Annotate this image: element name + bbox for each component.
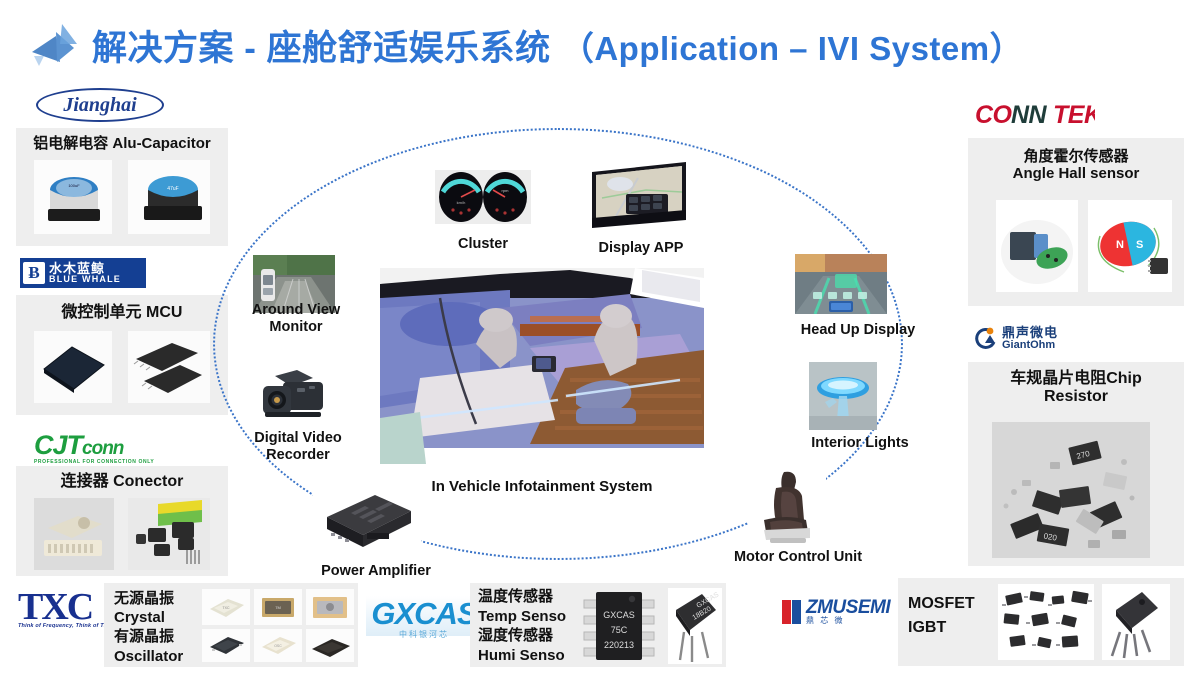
igbt-to247-package-image (1102, 584, 1170, 660)
mcu-chip-pair-image (128, 331, 210, 403)
hud-road-overlay-image (795, 254, 887, 314)
chip-resistors-scatter-image: 270 020 (992, 422, 1150, 558)
gxcas-to92-package-image: GXCAS 18B20 (668, 588, 722, 664)
zmusemi-logo-cn: 鼎 芯 微 (806, 617, 890, 625)
oscillator-smd-3-image (306, 629, 354, 662)
zmusemi-line-2: IGBT (908, 616, 975, 640)
gxcas-soic-chip-image: GXCAS 75C 220213 (580, 588, 658, 664)
svg-text:rpm: rpm (502, 188, 510, 193)
magnet-pole-diagram-image: N S (1088, 200, 1172, 292)
gxcas-line-1: 温度传感器 (478, 587, 566, 607)
panel-alu-capacitor-title: 铝电解电容 Alu-Capacitor (16, 128, 228, 152)
alu-capacitor-smd-image: 47uF (128, 160, 210, 234)
mosfet-package-group-image (998, 584, 1094, 660)
cjt-logo-sub-word: conn (82, 438, 123, 459)
giantohm-logo-cn: 鼎声微电 (1002, 326, 1058, 340)
svg-text:km/h: km/h (457, 200, 466, 205)
oscillator-smd-2-image: OSC (254, 629, 302, 662)
txc-line-2: Crystal (114, 608, 183, 627)
txc-line-4: Oscillator (114, 647, 183, 666)
gxcas-line-3: 湿度传感器 (478, 626, 566, 646)
panel-gxcas-sensors: 温度传感器 Temp Senso 湿度传感器 Humi Senso GXCAS … (470, 583, 726, 667)
mcu-qfp-chip-image (34, 331, 112, 403)
panel-txc-crystal: 无源晶振 Crystal 有源晶振 Oscillator TXC 7M OSC (104, 583, 358, 667)
connector-housing-black-image (128, 498, 210, 570)
page-title: 解决方案 - 座舱舒适娱乐系统 （Application – IVI Syste… (92, 20, 1023, 71)
svg-text:OSC: OSC (274, 644, 282, 648)
center-label-ivi: In Vehicle Infotainment System (380, 478, 704, 495)
giantohm-mark-icon (972, 326, 998, 352)
crystal-smd-1-image: TXC (202, 589, 250, 625)
node-label-around-view-monitor: Around View Monitor (240, 302, 352, 335)
cjt-logo-tagline: PROFESSIONAL FOR CONNECTION ONLY (34, 460, 154, 465)
gxcas-line-2: Temp Senso (478, 607, 566, 627)
svg-text:TXC: TXC (223, 606, 230, 610)
panel-connector-title: 连接器 Conector (16, 466, 228, 491)
panel-resistor-title-en: Resistor (968, 388, 1184, 406)
panel-mosfet-igbt: MOSFET IGBT (898, 578, 1184, 666)
node-label-interior-lights: Interior Lights (790, 435, 930, 452)
svg-text:CO: CO (975, 101, 1013, 129)
crystal-smd-2-image: 7M (254, 589, 302, 625)
zmusemi-line-1: MOSFET (908, 592, 975, 616)
txc-line-3: 有源晶振 (114, 627, 183, 646)
node-label-head-up-display: Head Up Display (780, 322, 936, 339)
hall-sensor-module-image (996, 200, 1078, 292)
zmusemi-logo: ZMUSEMI 鼎 芯 微 (782, 598, 890, 625)
panel-mcu-title: 微控制单元 MCU (16, 295, 228, 322)
node-label-cluster: Cluster (420, 236, 546, 253)
alu-capacitor-blue-top-image: 100uF (34, 160, 112, 234)
panel-mcu: 微控制单元 MCU (16, 295, 228, 415)
giantohm-logo-en: GiantOhm (1002, 340, 1058, 352)
node-label-display-app: Display APP (576, 240, 706, 257)
node-label-power-amplifier: Power Amplifier (300, 563, 452, 580)
power-car-seat-image (748, 468, 826, 548)
gxcas-logo: GXCAS 中科银河芯 (366, 596, 482, 636)
zmusemi-logo-en: ZMUSEMI (806, 598, 890, 617)
txc-logo: TXC Think of Frequency, Think of TXC (18, 588, 112, 630)
instrument-cluster-dials-image: km/h rpm (435, 170, 531, 224)
bluewhale-mark-icon: Ƀ (23, 262, 45, 284)
slide-root: 解决方案 - 座舱舒适娱乐系统 （Application – IVI Syste… (0, 0, 1200, 674)
page-title-en: （Application – IVI System） (561, 30, 1023, 67)
cjt-logo-main: CJT (34, 430, 82, 460)
jianghai-logo-text: Jianghai (36, 88, 164, 122)
gxcas-logo-main: GXCAS (366, 598, 482, 629)
panel-connector: 连接器 Conector (16, 466, 228, 576)
node-label-digital-video-recorder: Digital Video Recorder (240, 430, 356, 463)
dashcam-device-image (257, 368, 335, 426)
zmusemi-mark-icon (782, 600, 801, 624)
cjtconn-logo: CJTconn PROFESSIONAL FOR CONNECTION ONLY (34, 432, 154, 465)
gxcas-line-4: Humi Senso (478, 646, 566, 666)
panel-angle-hall-sensor: 角度霍尔传感器 Angle Hall sensor N S (968, 138, 1184, 306)
connector-header-white-image (34, 498, 114, 570)
svg-text:TEK: TEK (1053, 101, 1095, 129)
amplifier-black-box-image (313, 489, 421, 555)
car-cabin-interior-image (380, 268, 704, 464)
giantohm-logo: 鼎声微电 GiantOhm (972, 326, 1058, 352)
svg-text:100uF: 100uF (68, 183, 80, 188)
conntek-logo: CO NN TEK (975, 100, 1095, 135)
bluewhale-logo-en: BLUE WHALE (49, 275, 121, 284)
node-label-motor-control-unit: Motor Control Unit (718, 549, 878, 566)
panel-chip-resistor: 车规晶片电阻Chip Resistor 270 020 (968, 362, 1184, 566)
crystal-smd-3-image (306, 589, 354, 625)
svg-text:220213: 220213 (604, 640, 634, 650)
txc-logo-main: TXC (18, 588, 112, 626)
txc-logo-tagline: Think of Frequency, Think of TXC (18, 624, 112, 630)
triangle-logo-icon (30, 22, 88, 68)
panel-alu-capacitor: 铝电解电容 Alu-Capacitor 100uF 47uF (16, 128, 228, 246)
svg-text:47uF: 47uF (167, 186, 178, 192)
oscillator-smd-1-image (202, 629, 250, 662)
svg-text:75C: 75C (611, 625, 628, 635)
txc-line-1: 无源晶振 (114, 589, 183, 608)
jianghai-logo: Jianghai (36, 88, 164, 122)
bluewhale-logo: Ƀ 水木蓝鲸 BLUE WHALE (20, 258, 146, 288)
slide-header: 解决方案 - 座舱舒适娱乐系统 （Application – IVI Syste… (0, 0, 1200, 82)
blue-cabin-lamp-image (809, 362, 877, 430)
svg-text:NN: NN (1011, 101, 1048, 129)
svg-text:GXCAS: GXCAS (603, 610, 635, 620)
svg-text:S: S (1136, 239, 1143, 251)
panel-resistor-title-cn: 车规晶片电阻Chip (968, 362, 1184, 388)
panel-hall-title-cn: 角度霍尔传感器 (968, 138, 1184, 165)
tablet-navigation-screen-image (586, 158, 694, 230)
panel-hall-title-en: Angle Hall sensor (968, 165, 1184, 182)
svg-text:7M: 7M (275, 605, 281, 610)
svg-text:N: N (1116, 239, 1124, 251)
page-title-cn: 解决方案 - 座舱舒适娱乐系统 (92, 29, 551, 68)
